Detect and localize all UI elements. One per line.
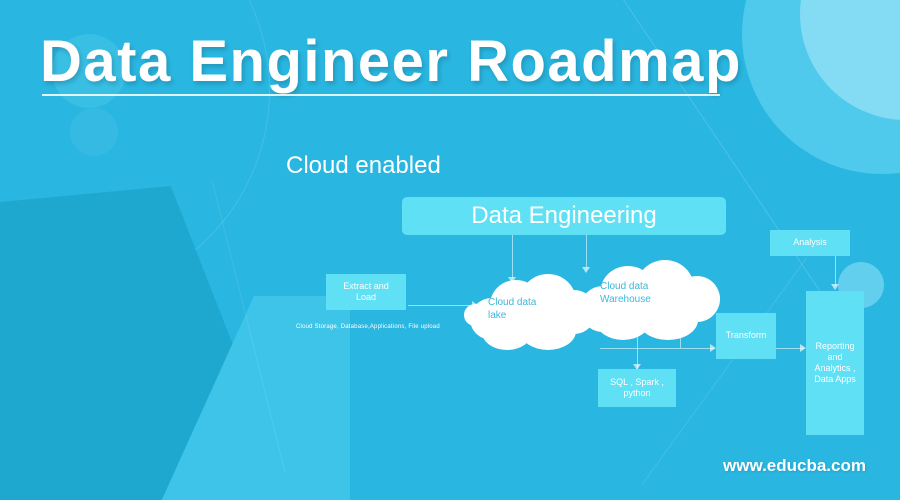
slide-canvas: Data Engineer Roadmap Cloud enabled Clou…	[0, 0, 900, 500]
node-transform-label: Transform	[726, 330, 767, 341]
node-extract-and-load[interactable]: Extract and Load	[326, 274, 406, 310]
source-systems-caption: Cloud Storage, Database,Applications, Fi…	[296, 324, 440, 330]
page-title: Data Engineer Roadmap	[40, 28, 742, 95]
cloud-puff	[464, 304, 486, 326]
node-analysis-label: Analysis	[793, 237, 827, 248]
connector-warehouse-to-transform-h	[680, 348, 714, 349]
cloud-puff	[638, 300, 698, 340]
node-reporting-analytics-data-apps[interactable]: Reporting and Analytics , Data Apps	[806, 291, 864, 435]
node-reporting-label: Reporting and Analytics , Data Apps	[809, 341, 861, 386]
cloud-data-warehouse[interactable]: Cloud data Warehouse	[576, 258, 722, 342]
node-transform[interactable]: Transform	[716, 313, 776, 359]
connector-lake-to-transform	[600, 348, 680, 349]
node-analysis[interactable]: Analysis	[770, 230, 850, 256]
arrowhead-down	[831, 284, 839, 290]
title-underline	[42, 94, 720, 96]
node-data-engineering[interactable]: Data Engineering	[402, 197, 726, 235]
connector-analysis-to-reporting	[835, 256, 836, 286]
cloud-puff	[700, 288, 720, 308]
cloud-data-warehouse-label: Cloud data Warehouse	[600, 280, 651, 306]
subtitle-cloud-enabled: Cloud enabled	[286, 152, 441, 180]
cloud-data-lake-label: Cloud data lake	[488, 296, 536, 322]
node-sql-label: SQL , Spark , python	[601, 377, 673, 400]
site-url[interactable]: www.educba.com	[723, 456, 866, 476]
node-extract-and-load-label: Extract and Load	[343, 281, 389, 304]
node-sql-spark-python[interactable]: SQL , Spark , python	[598, 369, 676, 407]
